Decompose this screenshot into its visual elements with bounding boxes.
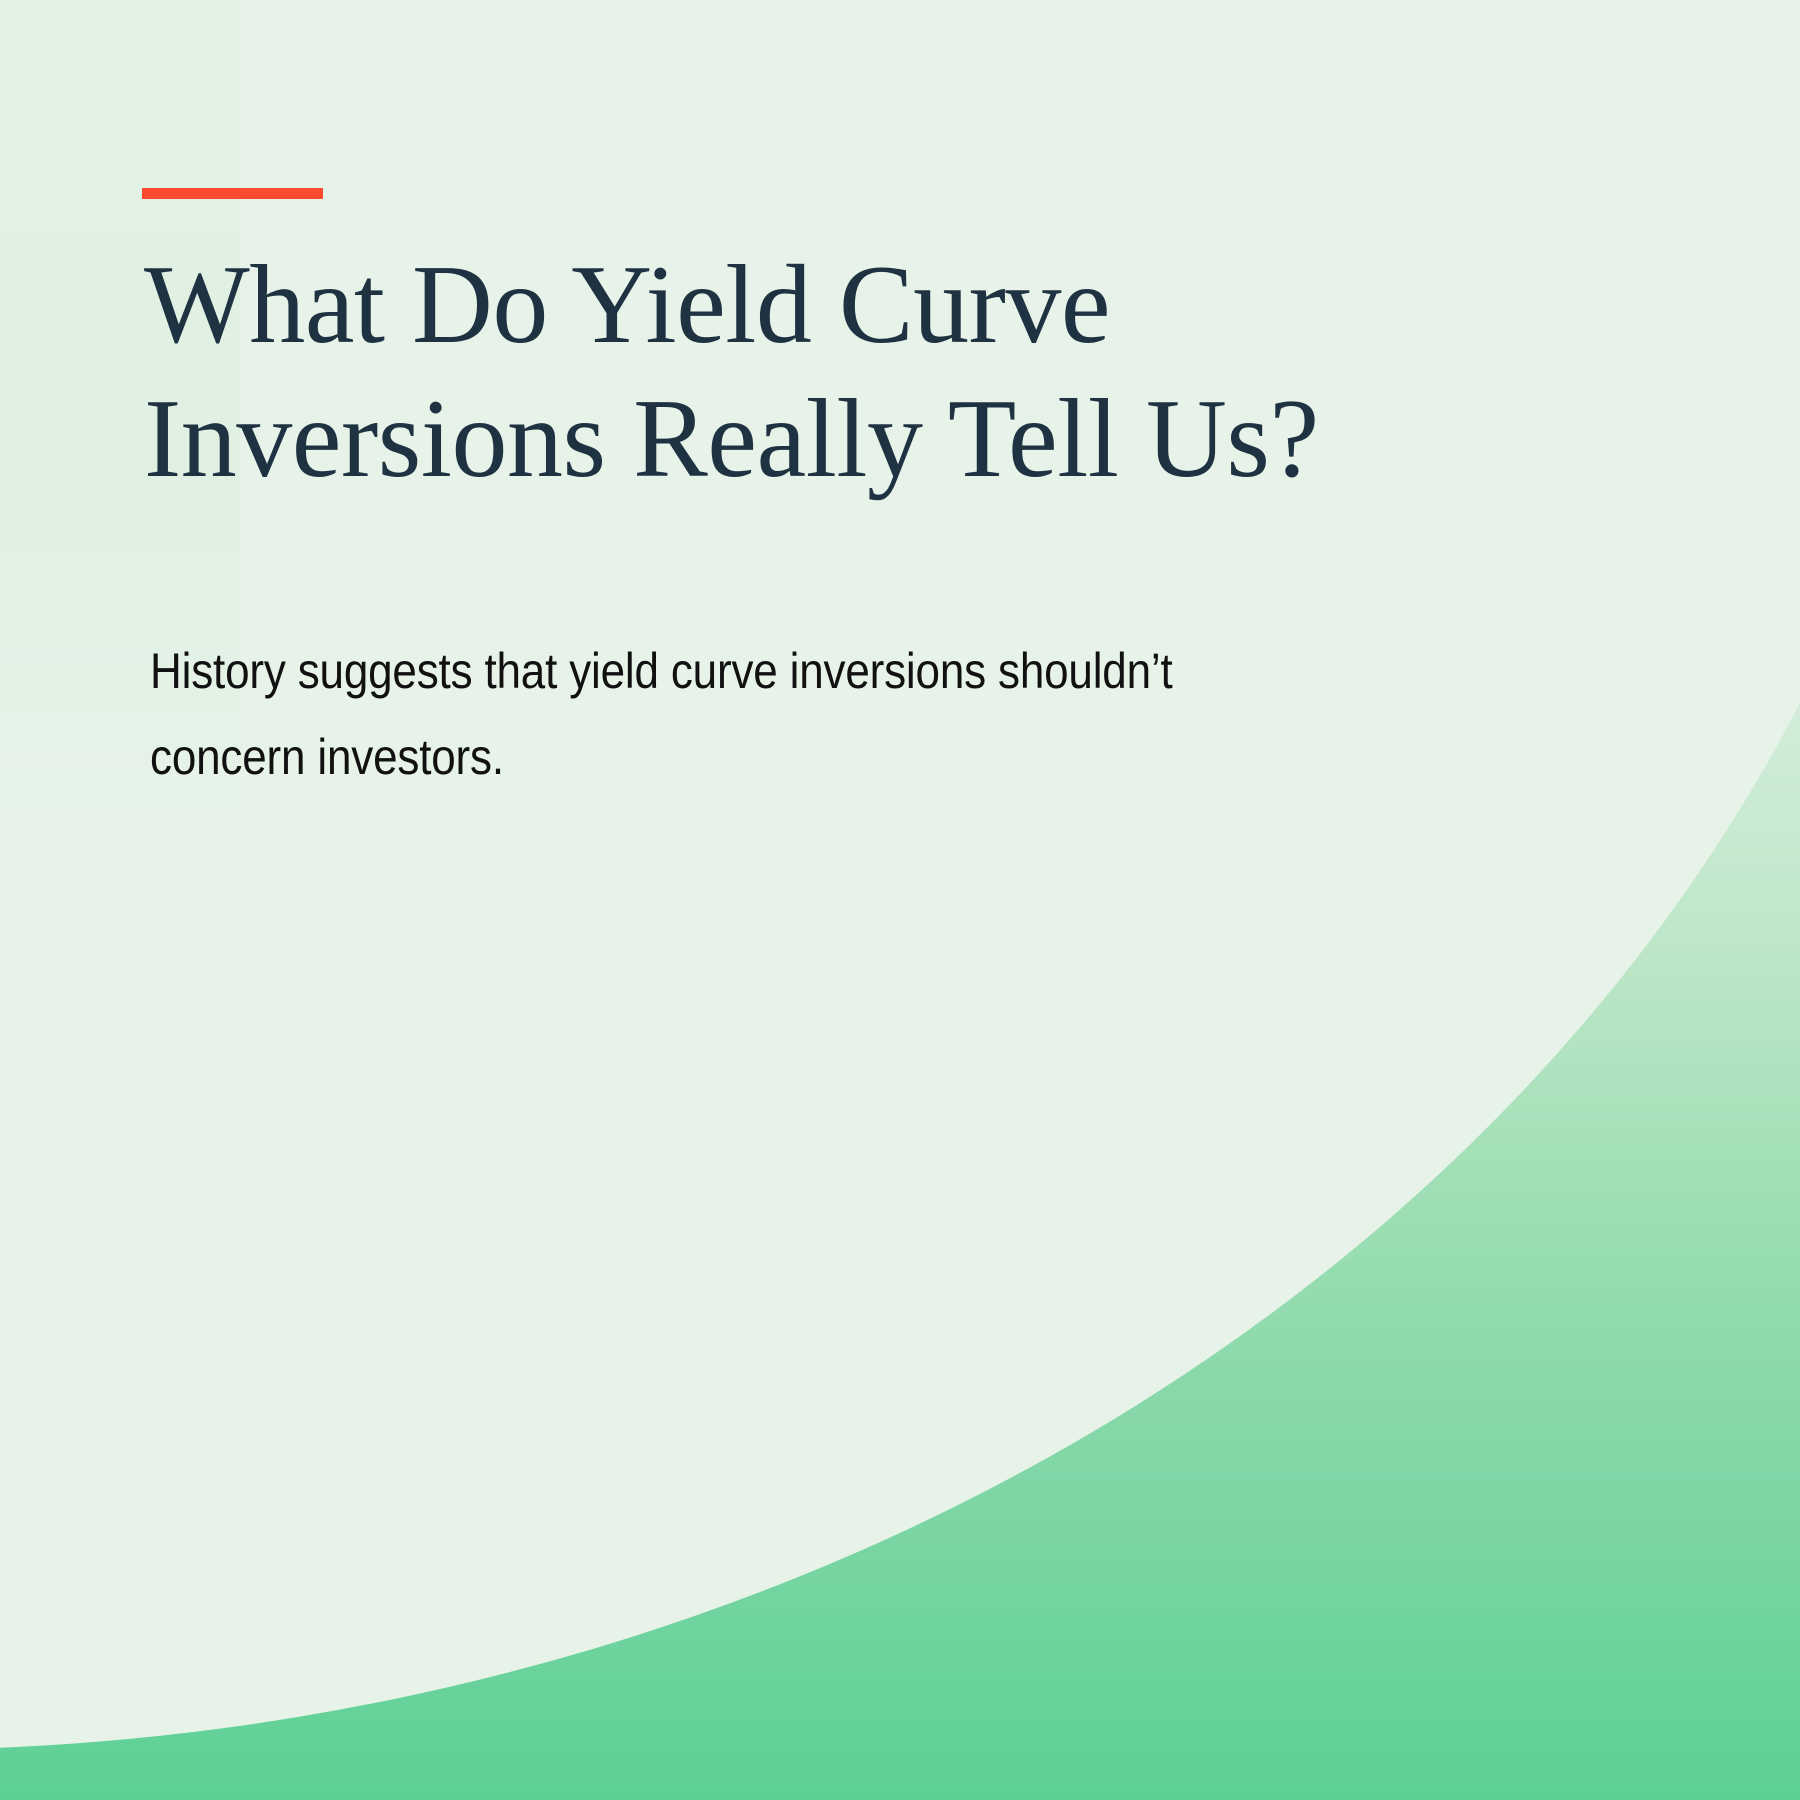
promo-card: What Do Yield Curve Inversions Really Te… — [0, 0, 1800, 1800]
page-subtitle: History suggests that yield curve invers… — [150, 628, 1329, 800]
page-subtitle-line-1: History suggests that yield curve invers… — [150, 628, 1329, 714]
card-content: What Do Yield Curve Inversions Really Te… — [0, 0, 1800, 1800]
page-title-line-1: What Do Yield Curve — [144, 238, 1594, 372]
accent-rule — [142, 188, 323, 199]
page-subtitle-line-2: concern investors. — [150, 714, 1329, 800]
page-title-line-2: Inversions Really Tell Us? — [144, 372, 1594, 506]
page-title: What Do Yield Curve Inversions Really Te… — [144, 238, 1594, 506]
